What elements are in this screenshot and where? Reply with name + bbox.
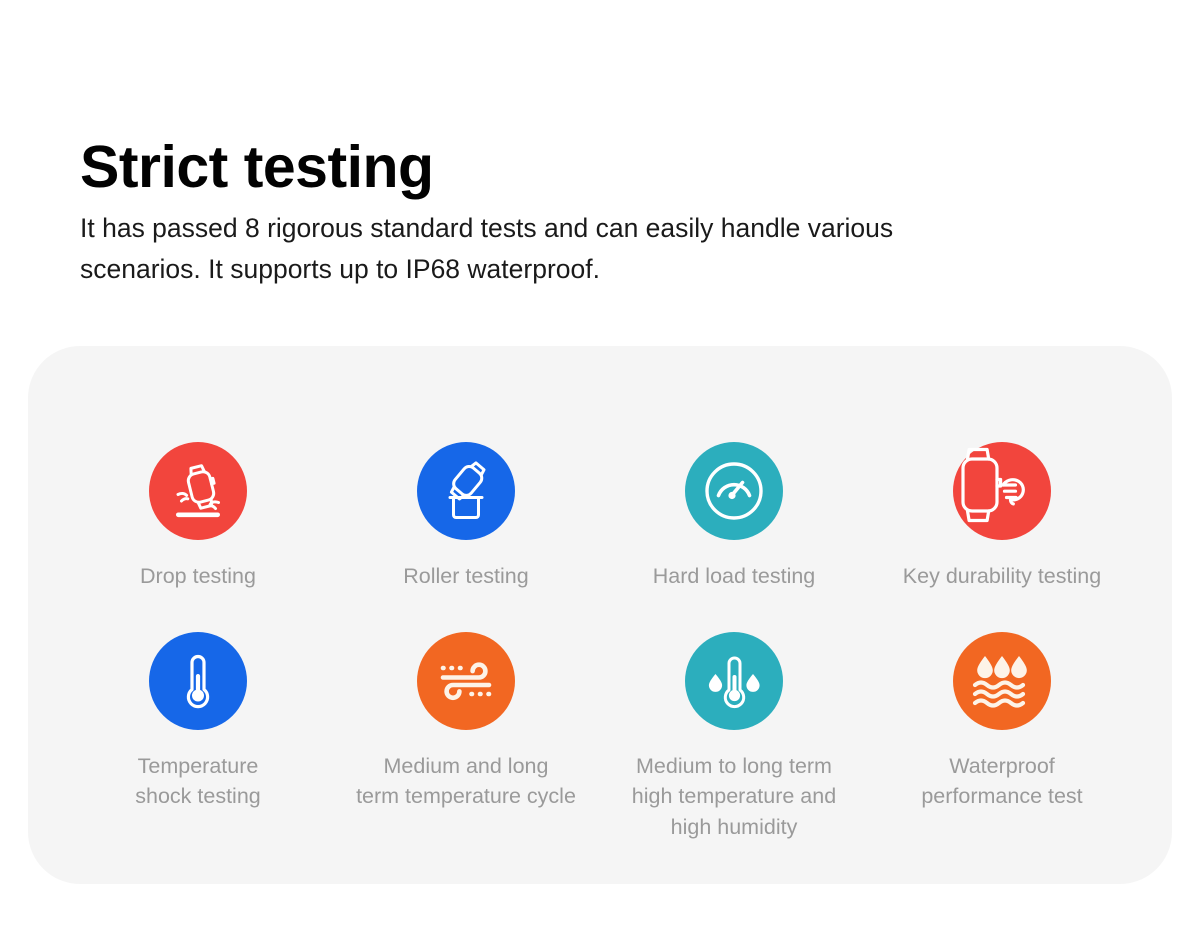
- test-item-temperature-cycle[interactable]: Medium and long term temperature cycle: [332, 632, 600, 843]
- temperature-cycle-circle: [417, 632, 515, 730]
- page-description: It has passed 8 rigorous standard tests …: [80, 208, 1040, 290]
- thermometer-icon: [161, 644, 235, 718]
- test-label: Medium to long term high temperature and…: [632, 751, 836, 843]
- test-item-hard-load-testing[interactable]: Hard load testing: [600, 442, 868, 592]
- high-temp-humidity-circle: [685, 632, 783, 730]
- wind-airflow-icon: [429, 644, 503, 718]
- page-title: Strict testing: [80, 138, 434, 197]
- watch-into-drum-icon: [429, 454, 503, 528]
- watch-button-press-hand-icon: [947, 436, 1057, 546]
- test-label: Waterproof performance test: [921, 751, 1082, 812]
- water-drops-waves-icon: [965, 644, 1039, 718]
- test-label: Roller testing: [403, 561, 528, 592]
- test-item-roller-testing[interactable]: Roller testing: [332, 442, 600, 592]
- gauge-speedometer-icon: [697, 454, 771, 528]
- description-line-1: It has passed 8 rigorous standard tests …: [80, 208, 1040, 249]
- test-label: Medium and long term temperature cycle: [356, 751, 576, 812]
- test-item-drop-testing[interactable]: Drop testing: [64, 442, 332, 592]
- waterproof-circle: [953, 632, 1051, 730]
- drop-testing-circle: [149, 442, 247, 540]
- strict-testing-page: Strict testing It has passed 8 rigorous …: [0, 0, 1200, 925]
- test-label: Drop testing: [140, 561, 256, 592]
- description-line-2: scenarios. It supports up to IP68 waterp…: [80, 249, 1040, 290]
- key-durability-testing-circle: [953, 442, 1051, 540]
- temperature-shock-testing-circle: [149, 632, 247, 730]
- test-item-waterproof[interactable]: Waterproof performance test: [868, 632, 1136, 843]
- test-label: Temperature shock testing: [135, 751, 260, 812]
- test-label: Key durability testing: [903, 561, 1101, 592]
- hard-load-testing-circle: [685, 442, 783, 540]
- tests-grid: Drop testing: [28, 346, 1172, 842]
- test-item-temperature-shock-testing[interactable]: Temperature shock testing: [64, 632, 332, 843]
- tests-card: Drop testing: [28, 346, 1172, 884]
- test-item-key-durability-testing[interactable]: Key durability testing: [868, 442, 1136, 592]
- test-item-high-temp-humidity[interactable]: Medium to long term high temperature and…: [600, 632, 868, 843]
- roller-testing-circle: [417, 442, 515, 540]
- watch-drop-impact-icon: [161, 454, 235, 528]
- test-label: Hard load testing: [653, 561, 816, 592]
- thermometer-humidity-icon: [697, 644, 771, 718]
